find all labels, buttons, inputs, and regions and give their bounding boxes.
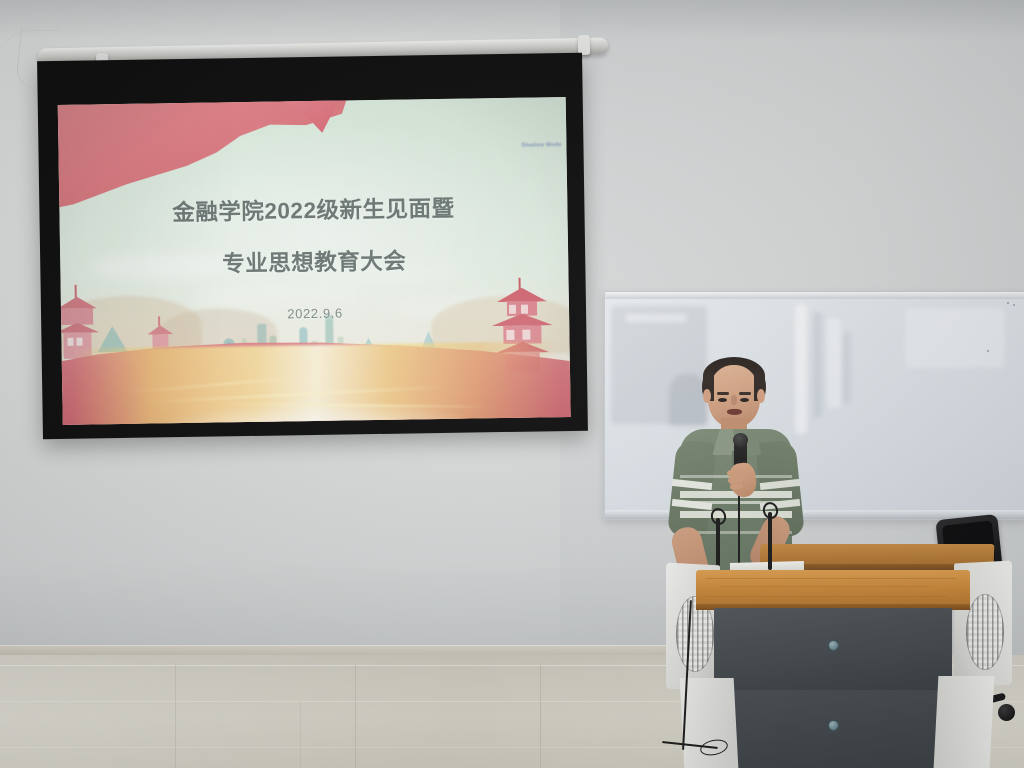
lectern-podium[interactable] — [668, 552, 1016, 768]
slide-title: 金融学院2022级新生见面暨 专业思想教育大会 — [59, 189, 568, 281]
presenter-mouth — [727, 409, 742, 415]
projection-screen: 金融学院2022级新生见面暨 专业思想教育大会 2022.9.6 Shadow … — [37, 53, 588, 440]
podium-right-column — [934, 676, 995, 768]
classroom-presentation-photo: 金融学院2022级新生见面暨 专业思想教育大会 2022.9.6 Shadow … — [0, 0, 1024, 768]
podium-speaker-grille-right — [966, 594, 1004, 670]
podium-wooden-top — [696, 570, 970, 608]
podium-lock-upper[interactable] — [828, 640, 839, 651]
ceiling-shadow — [0, 0, 1024, 40]
slide-watermark: Shadow Mode — [521, 142, 561, 149]
gooseneck-mic-stem[interactable] — [768, 512, 772, 570]
microphone-head-icon — [733, 433, 748, 447]
whiteboard-top-rail — [605, 292, 1024, 299]
slide-light-rays — [62, 341, 571, 425]
projected-slide: 金融学院2022级新生见面暨 专业思想教育大会 2022.9.6 Shadow … — [58, 97, 571, 425]
slide-title-line1: 金融学院2022级新生见面暨 — [172, 196, 454, 225]
podium-lock-lower[interactable] — [828, 720, 839, 731]
whiteboard[interactable] — [604, 291, 1024, 520]
